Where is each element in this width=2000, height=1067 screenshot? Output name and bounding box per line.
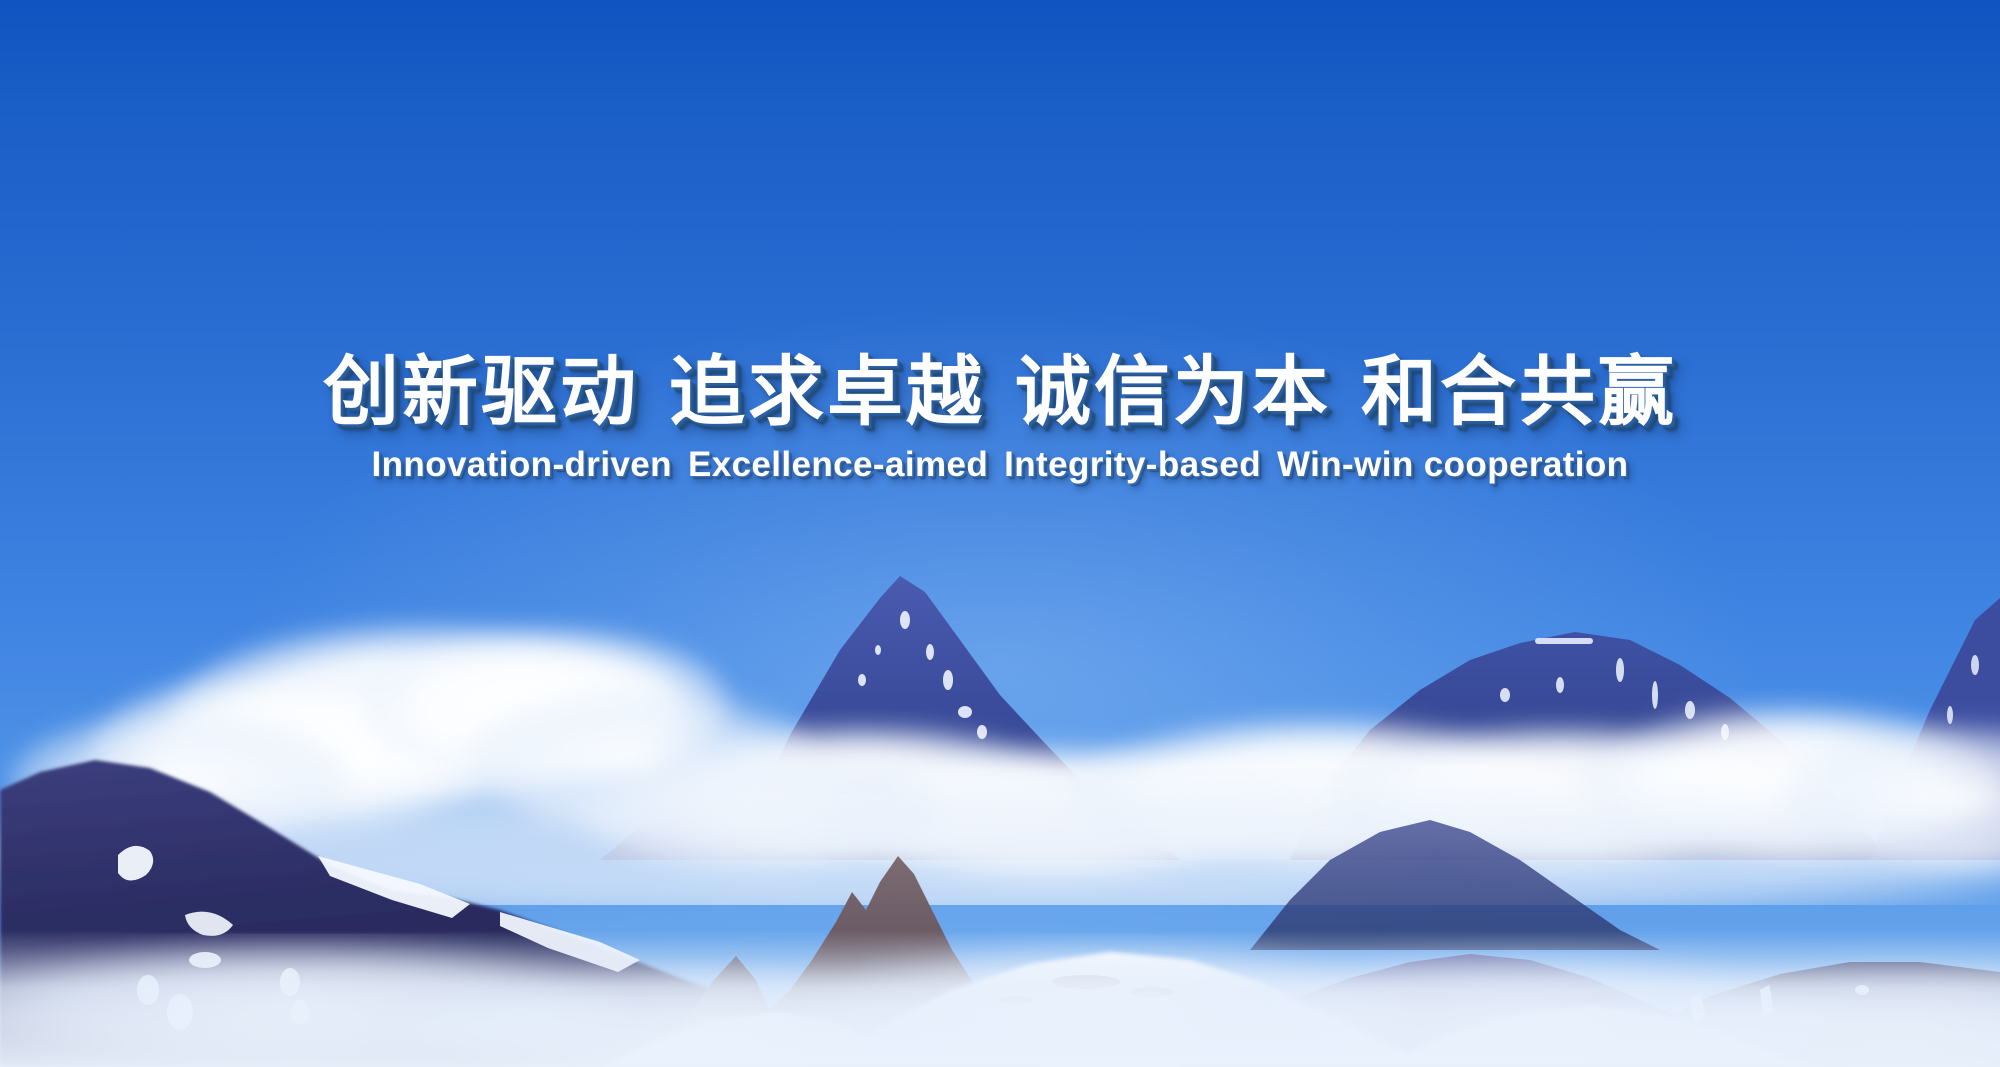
ground-mist	[0, 930, 2000, 1067]
banner-hero: 创新驱动追求卓越诚信为本和合共赢 Innovation-drivenExcell…	[0, 0, 2000, 1067]
